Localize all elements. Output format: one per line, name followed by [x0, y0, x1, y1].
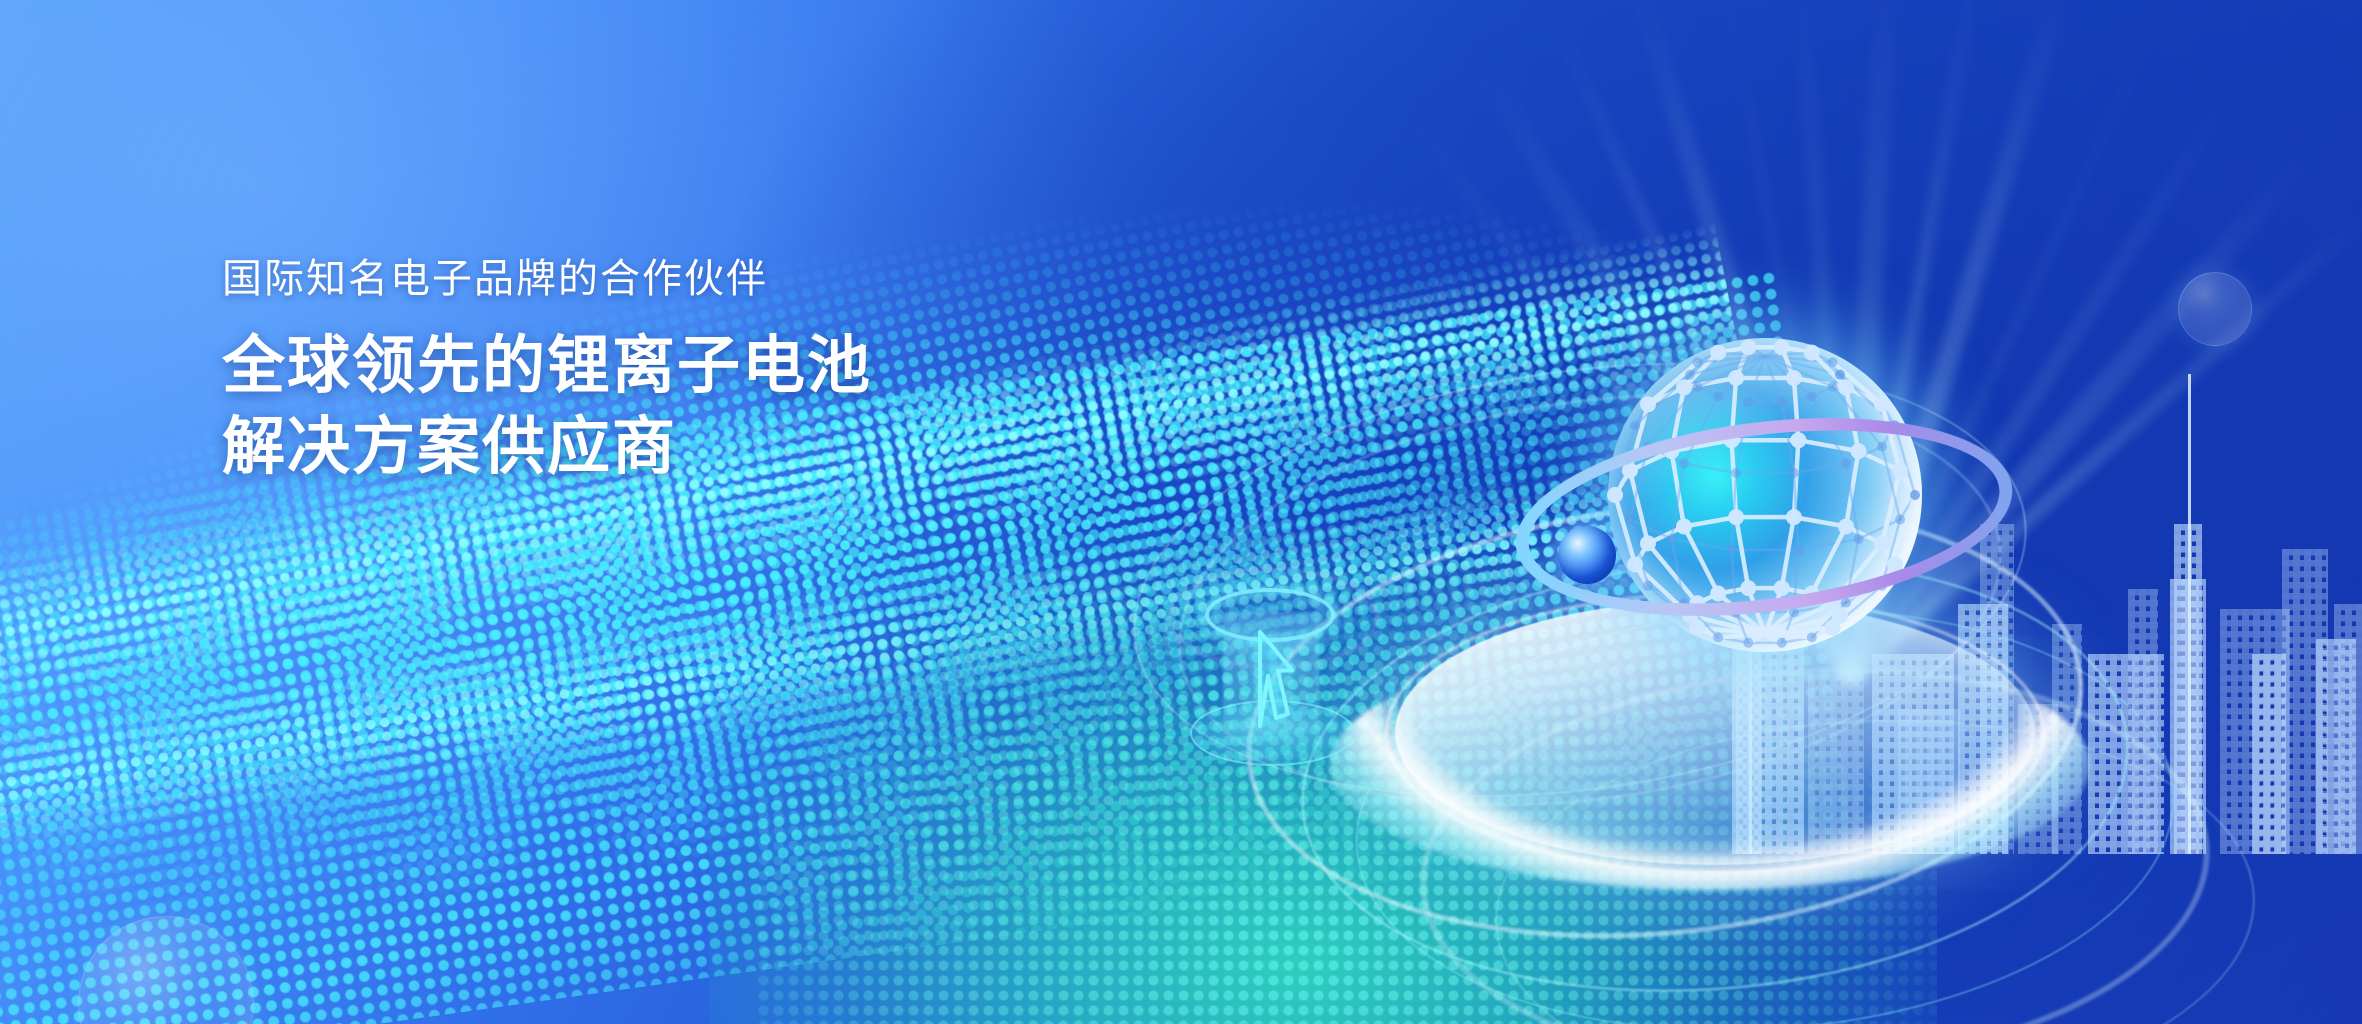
building — [2088, 654, 2164, 854]
orbit-bead-icon — [1558, 526, 1616, 584]
platform-light-sweep — [1330, 640, 2090, 890]
banner-copy: 国际知名电子品牌的合作伙伴 全球领先的锂离子电池 解决方案供应商 — [222, 246, 872, 487]
building — [2170, 579, 2206, 854]
banner-headline-line-1: 全球领先的锂离子电池 — [222, 326, 872, 407]
building — [2252, 654, 2286, 854]
building — [2282, 549, 2328, 854]
building — [2334, 604, 2362, 854]
banner-eyebrow: 国际知名电子品牌的合作伙伴 — [222, 246, 872, 304]
glass-bubble-icon — [78, 916, 254, 1024]
glass-bubble-icon — [2178, 272, 2252, 346]
wireframe-globe-icon — [1600, 330, 1930, 660]
antenna-spire — [2188, 374, 2191, 854]
cursor-arrow-icon — [1240, 614, 1312, 732]
halftone-dot-wave-icon — [0, 0, 2362, 1024]
building — [2128, 589, 2158, 854]
banner-headline-line-2: 解决方案供应商 — [222, 407, 872, 488]
hero-banner: 国际知名电子品牌的合作伙伴 全球领先的锂离子电池 解决方案供应商 — [0, 0, 2362, 1024]
building — [2220, 609, 2290, 854]
building — [2316, 639, 2356, 854]
building — [2174, 524, 2202, 854]
